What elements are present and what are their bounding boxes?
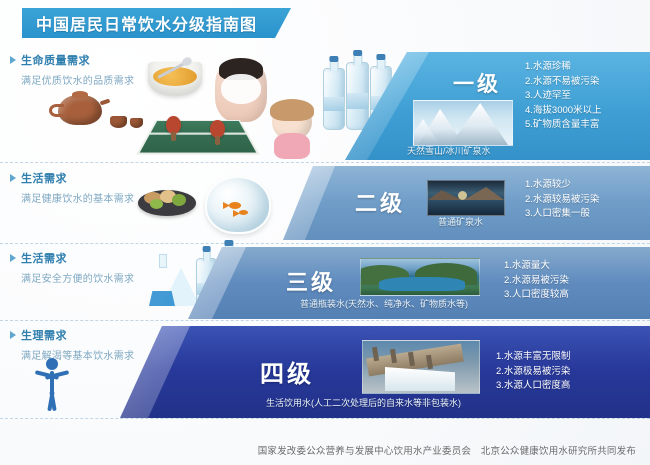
tier-4-level-label: 四级 [260,354,314,389]
tier-3-char-1: 1.水源量大 [504,259,569,274]
page-title: 中国居民日常饮水分级指南图 [22,8,291,38]
tier-1-char-2: 2.水源不易被污染 [525,75,602,90]
tier-2-char-3: 3.人口密集一般 [525,207,599,222]
triangle-bullet-icon [10,331,16,339]
divider-2 [0,243,650,245]
triangle-bullet-icon [10,174,16,182]
tier-3-level-label: 三级 [286,265,336,297]
baby-illustration [272,103,312,141]
tier-2-char-1: 1.水源较少 [525,178,599,193]
infographic-canvas: 中国居民日常饮水分级指南图 生命质量需求 满足优质饮水的品质需求 生活需求 满足… [0,0,650,465]
divider-4 [0,418,650,420]
need-title: 生理需求 [21,327,67,343]
tier-1-photo [413,100,513,146]
tier-3-characteristics: 1.水源量大 2.水源易被污染 3.人口密度较高 [504,259,569,303]
footer-credits: 国家发改委公众营养与发展中心饮用水产业委员会 北京公众健康饮用水研究所共同发布 [0,443,636,457]
tier-4-photo [362,340,480,394]
tier-1-char-3: 3.人迹罕至 [525,89,602,104]
tier-4[interactable]: 四级 生活饮用水(人工二次处理后的自来水等非包装水) 1.水源丰富无限制 2.水… [120,326,650,418]
need-title: 生活需求 [21,250,67,266]
tier-1-caption: 天然雪山/冰川矿泉水 [407,144,491,157]
fishbowl-illustration [205,176,271,234]
tier-4-char-3: 3.水源人口密度高 [496,379,570,394]
tier-2-caption: 普通矿泉水 [438,215,483,228]
need-title-row: 生活需求 [10,170,210,186]
teapot-illustration [58,95,102,125]
tier-2-level-label: 二级 [355,186,405,218]
tier-1-characteristics: 1.水源珍稀 2.水源不易被污染 3.人迹罕至 4.海拔3000米以上 5.矿物… [525,60,602,133]
human-figure-illustration [46,358,58,370]
tier-4-char-2: 2.水源极易被污染 [496,365,570,380]
tier-4-caption: 生活饮用水(人工二次处理后的自来水等非包装水) [266,396,461,409]
table-tennis-illustration [148,110,248,158]
tier-1[interactable]: 一级 天然雪山/冰川矿泉水 1.水源珍稀 2.水源不易被污染 3.人迹罕至 4.… [345,52,650,160]
tier-1-char-5: 5.矿物质含量丰富 [525,118,602,133]
tier-2[interactable]: 二级 普通矿泉水 1.水源较少 2.水源较易被污染 3.人口密集一般 [283,166,650,240]
tier-2-char-2: 2.水源较易被污染 [525,193,599,208]
tier-1-level-label: 一级 [453,68,501,98]
tier-2-characteristics: 1.水源较少 2.水源较易被污染 3.人口密集一般 [525,178,599,222]
tier-3-char-3: 3.人口密度较高 [504,288,569,303]
need-title: 生活需求 [21,170,67,186]
need-title: 生命质量需求 [21,52,90,68]
tier-1-char-1: 1.水源珍稀 [525,60,602,75]
tier-3-char-2: 2.水源易被污染 [504,274,569,289]
teacup-illustration-1 [110,116,127,128]
tier-1-char-4: 4.海拔3000米以上 [525,104,602,119]
teacup-illustration-2 [130,118,143,128]
tier-2-photo [427,180,505,216]
soup-bowl-illustration [148,62,202,96]
tier-4-char-1: 1.水源丰富无限制 [496,350,570,365]
divider-1 [0,162,650,164]
tier-3-photo [360,258,480,296]
need-title-row: 生活需求 [10,250,210,266]
triangle-bullet-icon [10,56,16,64]
divider-3 [0,320,650,322]
tier-3-caption: 普通瓶装水(天然水、纯净水、矿物质水等) [300,297,468,310]
tier-3[interactable]: 三级 普通瓶装水(天然水、纯净水、矿物质水等) 1.水源量大 2.水源易被污染 … [188,247,650,319]
triangle-bullet-icon [10,254,16,262]
food-plate-illustration [138,190,196,216]
tier-4-characteristics: 1.水源丰富无限制 2.水源极易被污染 3.水源人口密度高 [496,350,570,394]
